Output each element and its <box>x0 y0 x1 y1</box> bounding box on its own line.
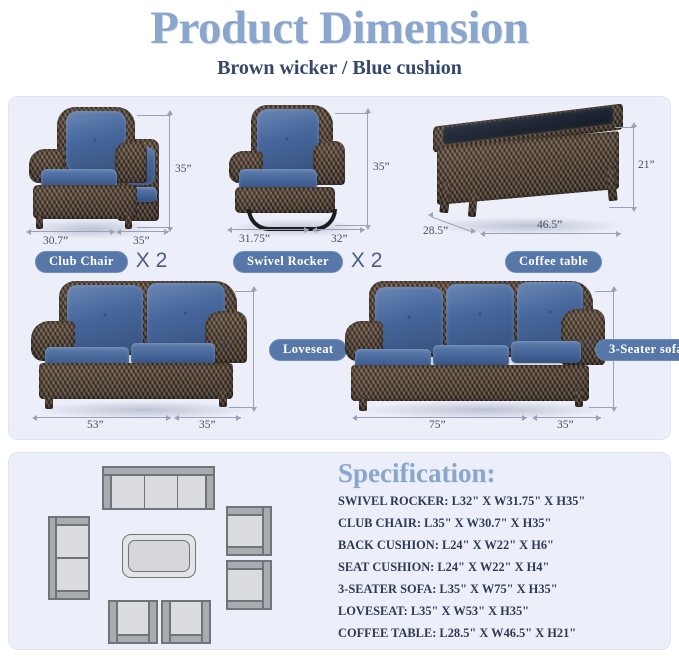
coffee-table-height-label: 21” <box>638 159 655 171</box>
sofa-depth-arrow-left <box>532 415 537 421</box>
swivel-rocker-back-cushion <box>257 109 319 173</box>
loveseat-width-arrow-left <box>32 415 37 421</box>
club-chair-depth-line <box>31 231 115 232</box>
sofa-seat-cushion-right <box>511 341 581 363</box>
loveseat-depth-label: 35” <box>199 419 216 431</box>
swivel-rocker-right-arm <box>313 141 345 185</box>
swivel-rocker-depth-arrow-right <box>304 227 309 233</box>
spec-line-club-chair: CLUB CHAIR: L35" X W30.7" X H35" <box>338 512 670 534</box>
layout-diagram <box>18 460 318 646</box>
product-swivel-rocker: 35” 31.75” 32” Swivel RockerX 2 <box>227 101 417 271</box>
sofa-depth-label: 35” <box>557 419 574 431</box>
swivel-rocker-depth-label: 31.75” <box>239 233 270 245</box>
club-chair-width-arrow-right <box>164 229 169 235</box>
coffee-table-height-tick-top <box>615 127 635 128</box>
loveseat-width-line <box>37 417 171 418</box>
swivel-rocker-width-label: 32” <box>331 233 348 245</box>
sofa-height-tick-top <box>595 291 615 292</box>
sofa-depth-line <box>537 417 601 418</box>
loveseat-leg-left <box>45 395 53 409</box>
coffee-table-badge: Coffee table <box>505 251 602 273</box>
sofa-base <box>351 365 589 401</box>
loveseat-back-cushion-left <box>67 285 143 351</box>
swivel-rocker-width-line <box>317 229 365 230</box>
sofa-depth-arrow-right <box>596 415 601 421</box>
swivel-rocker-height-line <box>367 113 368 225</box>
spec-line-swivel-rocker: SWIVEL ROCKER: L32" X W31.75" X H35" <box>338 490 670 512</box>
club-chair-height-tick-top <box>137 115 171 116</box>
loveseat-height-label: 35” <box>219 339 236 351</box>
swivel-rocker-height-tick-top <box>335 113 369 114</box>
swivel-rocker-width-arrow-right <box>360 227 365 233</box>
loveseat-badge: Loveseat <box>269 339 347 361</box>
club-chair-height-label: 35” <box>175 163 192 175</box>
coffee-table-leg-back-left <box>468 189 478 218</box>
spec-line-3-seater-sofa: 3-SEATER SOFA: L35" X W75" X H35" <box>338 578 670 600</box>
product-coffee-table: 21” 28.5” 46.5” Coffee table <box>409 101 659 271</box>
swivel-rocker-swivel-base <box>247 209 337 231</box>
loveseat-seat-cushion-right <box>131 343 215 365</box>
spec-line-coffee-table: COFFEE TABLE: L28.5" X W46.5" X H21" <box>338 622 670 644</box>
sofa-back-cushion-middle <box>446 284 514 350</box>
loveseat-badge-row: Loveseat <box>269 339 347 361</box>
loveseat-depth-line <box>179 417 241 418</box>
coffee-table-depth-arrow-right <box>471 228 476 234</box>
product-loveseat: 35” 53” 35” Loveseat <box>23 277 343 435</box>
coffee-table-height-line <box>633 127 634 207</box>
coffee-table-depth-arrow-left <box>428 212 433 218</box>
loveseat-height-line <box>253 291 254 407</box>
page-subtitle: Brown wicker / Blue cushion <box>0 57 679 80</box>
layout-loveseat <box>48 516 90 600</box>
club-chair-right-arm <box>115 141 147 183</box>
club-chair-width-line <box>121 231 169 232</box>
swivel-rocker-badge-row: Swivel RockerX 2 <box>233 249 382 273</box>
sofa-badge: 3-Seater sofa <box>595 339 679 361</box>
layout-chair-bottom-right <box>161 600 211 644</box>
club-chair-leg-right <box>125 213 132 229</box>
specification-title: Specification: <box>338 458 670 488</box>
spec-line-back-cushion: BACK CUSHION: L24" X W22" X H6" <box>338 534 670 556</box>
sofa-width-line <box>357 417 527 418</box>
loveseat-depth-arrow-left <box>174 415 179 421</box>
swivel-rocker-badge: Swivel Rocker <box>233 251 343 273</box>
coffee-table-badge-row: Coffee table <box>505 249 610 273</box>
club-chair-base <box>33 185 137 219</box>
layout-3-seater-sofa <box>102 466 215 510</box>
club-chair-badge: Club Chair <box>35 251 128 273</box>
sofa-seat-cushion-middle <box>433 345 509 367</box>
sofa-width-label: 75” <box>429 419 446 431</box>
sofa-width-arrow-right <box>522 415 527 421</box>
loveseat-depth-arrow-right <box>236 415 241 421</box>
coffee-table-width-label: 46.5” <box>537 219 562 231</box>
sofa-badge-row: 3-Seater sofa <box>595 339 679 361</box>
swivel-rocker-depth-arrow-left <box>227 227 232 233</box>
swivel-rocker-depth-line <box>231 229 309 230</box>
club-chair-depth-label: 30.7” <box>43 235 68 247</box>
swivel-rocker-quantity: X 2 <box>351 249 383 272</box>
club-chair-height-line <box>169 115 170 227</box>
spec-line-loveseat: LOVESEAT: L35" X W53" X H35" <box>338 600 670 622</box>
club-chair-depth-arrow-right <box>110 229 115 235</box>
page-title: Product Dimension <box>0 2 679 54</box>
loveseat-width-label: 53” <box>87 419 104 431</box>
layout-chair-bottom-left <box>108 600 158 644</box>
club-chair-badge-row: Club ChairX 2 <box>35 249 167 273</box>
club-chair-width-arrow-left <box>116 229 121 235</box>
loveseat-height-tick-bottom <box>229 407 255 408</box>
coffee-table-width-arrow-left <box>480 231 485 237</box>
product-dimension-infographic: Product Dimension Brown wicker / Blue cu… <box>0 0 679 656</box>
club-chair-width-label: 35” <box>133 235 150 247</box>
products-panel: 35” 30.7” 35” Club ChairX 2 <box>8 96 671 440</box>
loveseat-height-tick-top <box>235 291 255 292</box>
product-3-seater-sofa: 35” 75” 35” 3-Seater sofa <box>345 277 665 435</box>
sofa-leg-right <box>575 389 583 407</box>
sofa-leg-left <box>359 397 367 411</box>
swivel-rocker-height-label: 35” <box>373 161 390 173</box>
spec-line-seat-cushion: SEAT CUSHION: L24" X W22" X H4" <box>338 556 670 578</box>
loveseat-base <box>39 363 233 399</box>
sofa-back-cushion-left <box>375 287 443 353</box>
sofa-width-arrow-left <box>352 415 357 421</box>
coffee-table-height-tick-bottom <box>609 207 635 208</box>
loveseat-leg-right <box>219 389 227 407</box>
sofa-height-tick-bottom <box>589 407 615 408</box>
club-chair-quantity: X 2 <box>136 249 168 272</box>
swivel-rocker-width-arrow-left <box>312 227 317 233</box>
layout-chair-right-top <box>226 506 272 556</box>
loveseat-width-arrow-right <box>166 415 171 421</box>
specification-section: Specification: SWIVEL ROCKER: L32" X W31… <box>336 458 670 652</box>
club-chair-depth-arrow-left <box>26 229 31 235</box>
layout-chair-right-bottom <box>226 560 272 610</box>
coffee-table-depth-label: 28.5” <box>423 225 448 237</box>
layout-coffee-table <box>122 534 196 578</box>
product-club-chair: 35” 30.7” 35” Club ChairX 2 <box>21 101 231 271</box>
coffee-table-width-line <box>485 233 621 234</box>
club-chair-leg-left <box>36 215 43 229</box>
coffee-table-width-arrow-right <box>616 231 621 237</box>
sofa-height-label: 35” <box>579 339 596 351</box>
